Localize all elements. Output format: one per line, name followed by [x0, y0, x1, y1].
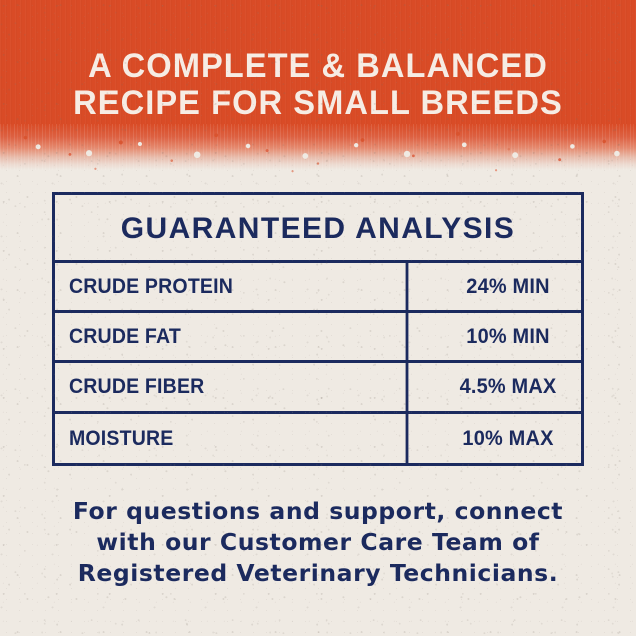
product-info-panel: A COMPLETE & BALANCED RECIPE FOR SMALL B…: [0, 0, 636, 636]
table-row: CRUDE PROTEIN 24% MIN: [55, 263, 581, 313]
table-row: CRUDE FAT 10% MIN: [55, 313, 581, 363]
guaranteed-analysis-table: GUARANTEED ANALYSIS CRUDE PROTEIN 24% MI…: [52, 192, 584, 466]
nutrient-value: 24% MIN: [439, 263, 578, 310]
band-paper-flecks: [0, 122, 636, 162]
nutrient-value: 10% MIN: [439, 313, 578, 360]
support-message-line-1: For questions and support, connect: [0, 496, 636, 527]
headline-line-2: RECIPE FOR SMALL BREEDS: [13, 85, 624, 122]
nutrient-label: MOISTURE: [55, 414, 408, 464]
guaranteed-analysis-title: GUARANTEED ANALYSIS: [55, 195, 581, 263]
support-message-line-2: with our Customer Care Team of: [0, 527, 636, 558]
table-row: CRUDE FIBER 4.5% MAX: [55, 363, 581, 413]
nutrient-label: CRUDE FIBER: [55, 363, 408, 410]
table-row: MOISTURE 10% MAX: [55, 414, 581, 464]
nutrient-label: CRUDE FAT: [55, 313, 408, 360]
support-message-line-3: Registered Veterinary Technicians.: [0, 558, 636, 589]
headline: A COMPLETE & BALANCED RECIPE FOR SMALL B…: [13, 48, 624, 122]
nutrient-label: CRUDE PROTEIN: [55, 263, 408, 310]
nutrient-value: 10% MAX: [439, 414, 578, 464]
nutrient-value: 4.5% MAX: [439, 363, 578, 410]
support-message: For questions and support, connect with …: [0, 496, 636, 589]
headline-line-1: A COMPLETE & BALANCED: [13, 48, 624, 85]
